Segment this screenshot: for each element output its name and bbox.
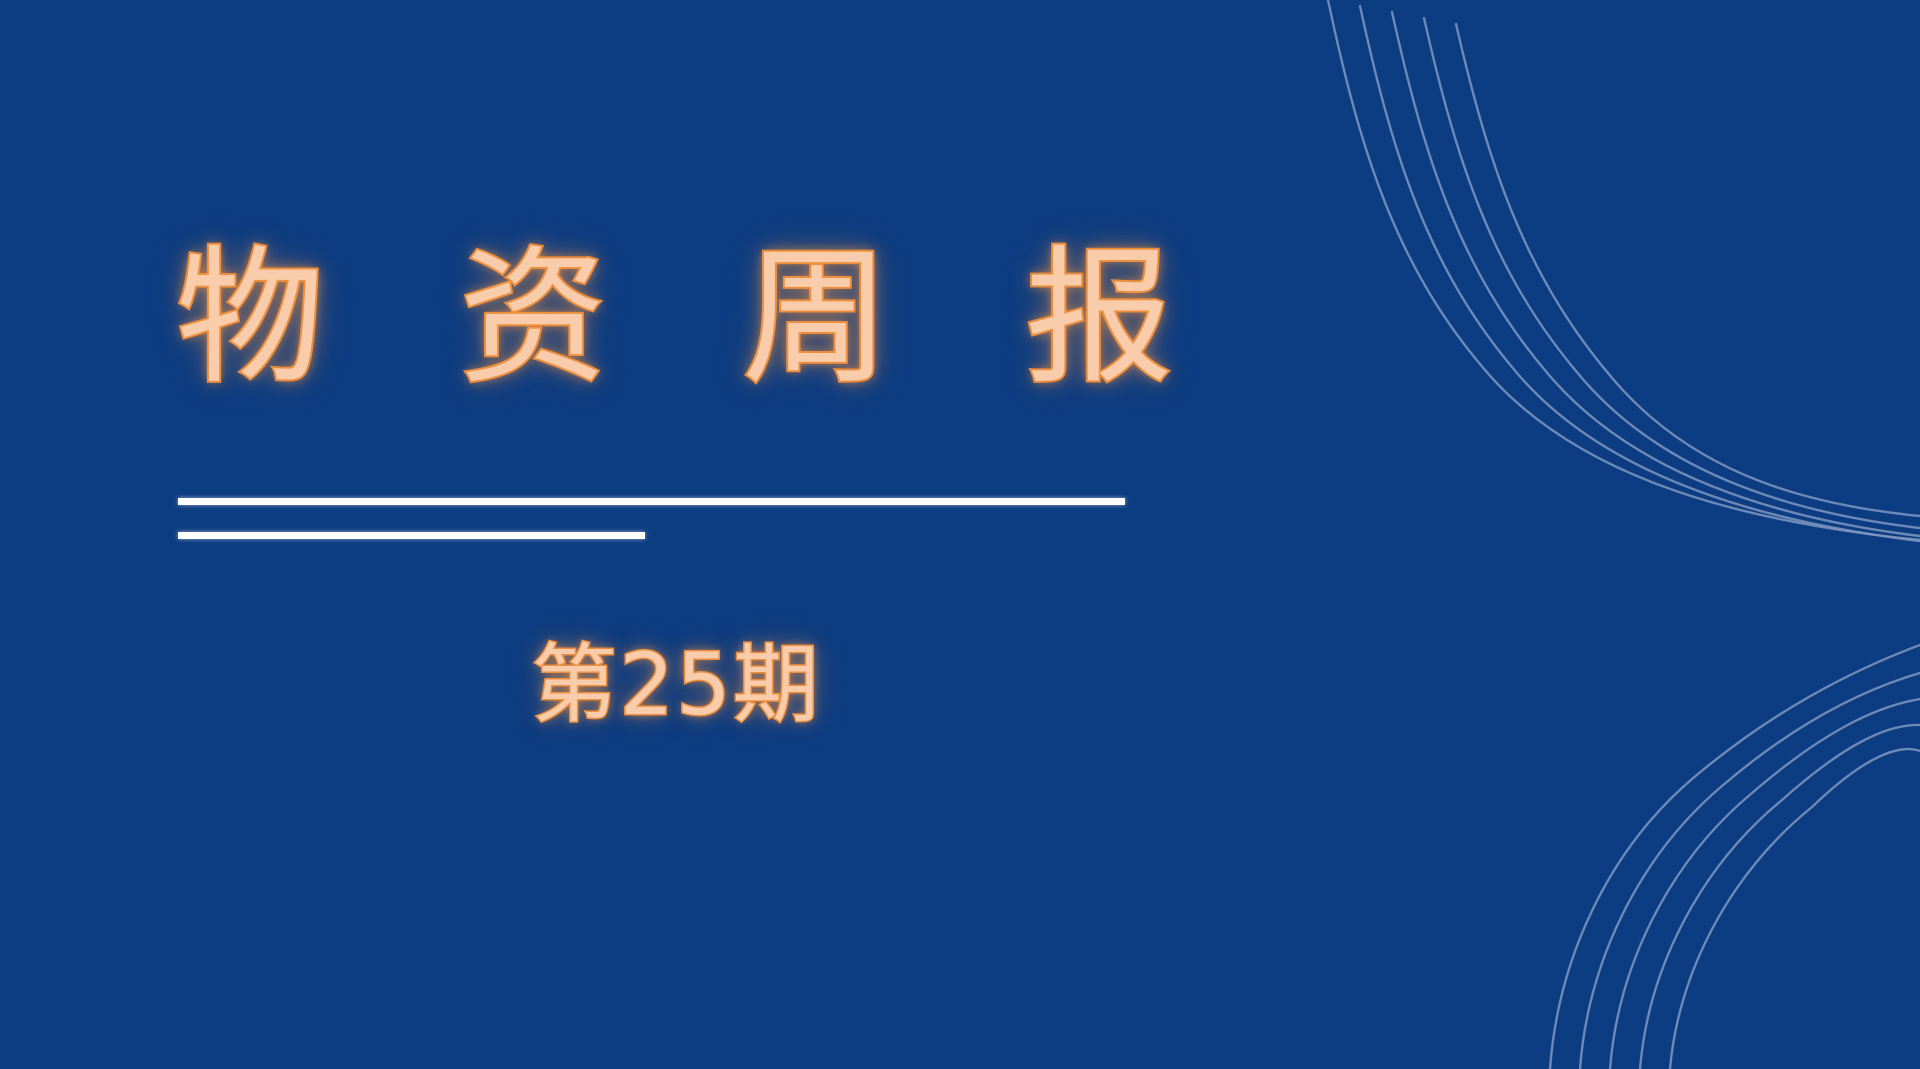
- wave-line-3: [1392, 12, 1920, 536]
- arc-line-1: [1550, 645, 1920, 1069]
- arc-line-4: [1640, 725, 1920, 1069]
- title-block: 物 资 周 报: [176, 243, 1176, 394]
- subtitle-block: 第25期: [176, 638, 1176, 733]
- arc-line-5: [1670, 749, 1920, 1069]
- top-right-wave-ribbon: [1300, 0, 1920, 580]
- title-underline-short: [178, 532, 645, 539]
- arc-line-2: [1580, 673, 1920, 1069]
- title-underline-long: [178, 498, 1125, 505]
- arc-line-3: [1610, 699, 1920, 1069]
- bottom-right-arc-ribbon: [1240, 589, 1920, 1069]
- cover-slide: 物 资 周 报 第25期: [0, 0, 1920, 1069]
- wave-line-2: [1360, 6, 1920, 541]
- wave-line-5: [1456, 24, 1920, 516]
- issue-subtitle: 第25期: [531, 638, 820, 733]
- wave-line-1: [1328, 0, 1920, 540]
- wave-line-4: [1424, 18, 1920, 528]
- page-title: 物 资 周 报: [176, 243, 1176, 394]
